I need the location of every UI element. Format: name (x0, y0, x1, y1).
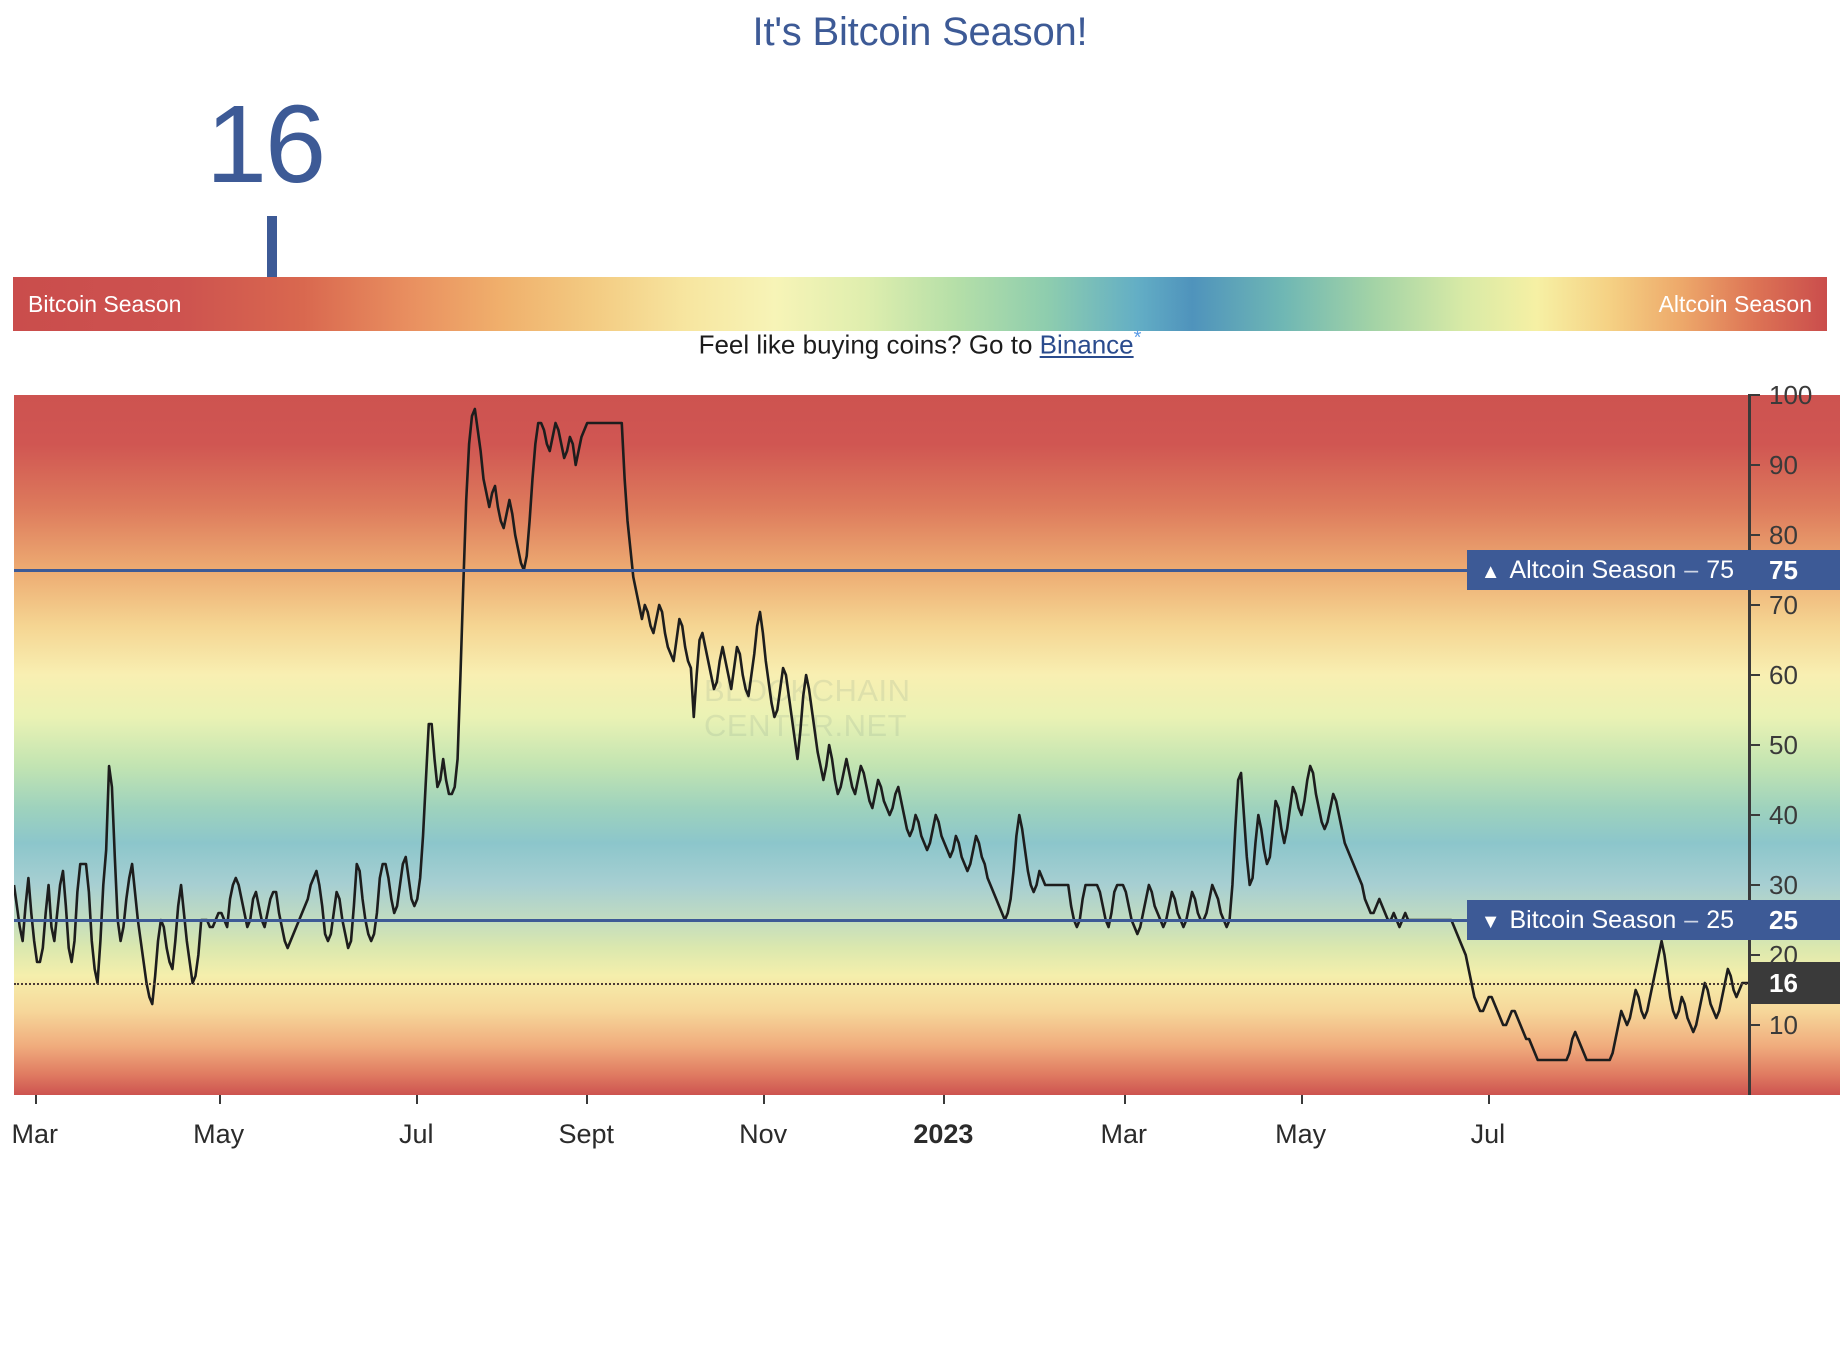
x-axis-label-Sept: Sept (558, 1121, 614, 1148)
promo-text: Feel like buying coins? Go to (699, 330, 1040, 360)
y-axis-label-25: 25 (1769, 907, 1798, 933)
x-axis-label-Nov: Nov (739, 1121, 787, 1148)
triangle-down-icon: ▼ (1481, 911, 1501, 933)
badge-label: Altcoin Season (1510, 556, 1677, 584)
y-axis-label-70: 70 (1769, 592, 1798, 618)
x-axis-label-Mar: Mar (1101, 1121, 1148, 1148)
x-axis-tick (763, 1095, 765, 1104)
y-axis-tick (1748, 464, 1760, 466)
y-axis-tick (1748, 1024, 1760, 1026)
x-axis-label-Jul: Jul (1471, 1121, 1506, 1148)
x-axis-label-Jul: Jul (399, 1121, 434, 1148)
chart-plot-area: BLOCKCHAIN CENTER.NET (14, 395, 1748, 1095)
season-bar-gradient: Bitcoin Season Altcoin Season (13, 277, 1827, 331)
y-axis-label-100: 100 (1769, 382, 1812, 408)
current-value-line (14, 983, 1754, 985)
y-axis-tick (1748, 954, 1760, 956)
triangle-up-icon: ▲ (1481, 561, 1501, 583)
current-index-value: 16 (0, 90, 530, 200)
badge-value: 75 (1706, 556, 1734, 584)
y-axis-label-10: 10 (1769, 1012, 1798, 1038)
binance-link[interactable]: Binance (1040, 330, 1134, 360)
x-axis-tick (35, 1095, 37, 1104)
page-title: It's Bitcoin Season! (0, 0, 1840, 52)
x-axis-tick (1488, 1095, 1490, 1104)
x-axis-tick (1301, 1095, 1303, 1104)
y-axis-tick (1748, 814, 1760, 816)
y-axis-label-40: 40 (1769, 802, 1798, 828)
y-axis-tick (1748, 674, 1760, 676)
y-axis-label-16: 16 (1769, 970, 1798, 996)
badge-separator: – (1684, 906, 1698, 934)
y-axis-label-75: 75 (1769, 557, 1798, 583)
promo-asterisk: * (1134, 327, 1142, 349)
promo-line: Feel like buying coins? Go to Binance* (0, 327, 1840, 361)
season-label-altcoin: Altcoin Season (1659, 277, 1812, 331)
index-value-block: 16 (0, 90, 530, 200)
x-axis-tick (416, 1095, 418, 1104)
x-axis-label-May: May (1275, 1121, 1326, 1148)
x-axis-label-Mar: Mar (12, 1121, 59, 1148)
x-axis-label-May: May (193, 1121, 244, 1148)
badge-separator: – (1684, 556, 1698, 584)
y-axis-label-80: 80 (1769, 522, 1798, 548)
y-axis-tick (1748, 604, 1760, 606)
y-axis-tick (1748, 394, 1760, 396)
x-axis-tick (943, 1095, 945, 1104)
badge-value: 25 (1706, 906, 1734, 934)
badge-label: Bitcoin Season (1510, 906, 1677, 934)
y-axis-label-30: 30 (1769, 872, 1798, 898)
season-label-bitcoin: Bitcoin Season (28, 277, 181, 331)
y-axis-label-50: 50 (1769, 732, 1798, 758)
bitcoin-season-badge: ▼Bitcoin Season–25 (1467, 900, 1748, 940)
y-axis-tick (1748, 884, 1760, 886)
x-axis: MarMayJulSeptNov2023MarMayJul (14, 1095, 1840, 1175)
altcoin-season-badge: ▲Altcoin Season–75 (1467, 550, 1748, 590)
x-axis-tick (219, 1095, 221, 1104)
y-axis-label-20: 20 (1769, 942, 1798, 968)
x-axis-label-2023: 2023 (913, 1121, 973, 1148)
x-axis-tick (1124, 1095, 1126, 1104)
y-axis-tick (1748, 744, 1760, 746)
altcoin-season-index-chart: BLOCKCHAIN CENTER.NET ▲Altcoin Season–75… (14, 395, 1840, 1305)
season-gradient-bar: Bitcoin Season Altcoin Season (13, 216, 1827, 331)
y-axis-label-60: 60 (1769, 662, 1798, 688)
y-axis-label-90: 90 (1769, 452, 1798, 478)
x-axis-tick (586, 1095, 588, 1104)
y-axis-tick (1748, 534, 1760, 536)
index-line-series (14, 395, 1748, 1095)
